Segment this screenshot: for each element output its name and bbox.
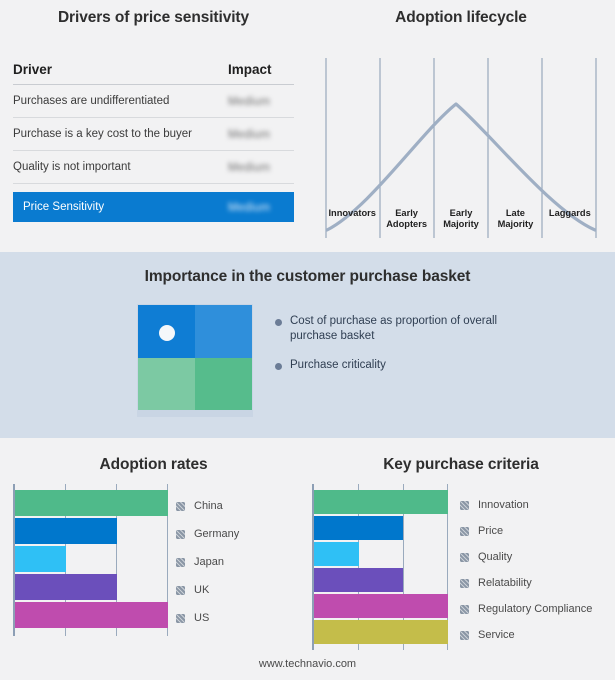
key-purchase-criteria-chart: InnovationPriceQualityRelatabilityRegula… [312,484,448,650]
stage-label-early-adopters: Early Adopters [379,208,433,230]
impact-text: Medium [228,96,270,108]
legend-label: Regulatory Compliance [478,603,592,615]
adoption-rates-title: Adoption rates [0,456,307,474]
basket-panel: Importance in the customer purchase bask… [0,252,615,438]
bar-us[interactable] [15,602,168,628]
impact-value: Medium [228,125,294,143]
matrix-quadrant-bottom-left[interactable] [138,358,195,411]
bullet-icon [275,363,282,370]
legend-item[interactable]: Regulatory Compliance [460,596,592,622]
basket-matrix [137,304,253,417]
legend-label: Germany [194,528,239,540]
legend-item[interactable]: Service [460,622,592,648]
legend-item[interactable]: US [176,604,239,632]
position-marker-icon [159,325,175,341]
drivers-table: Driver Impact Purchases are undifferenti… [13,62,294,222]
bar-group [314,490,448,644]
impact-value: Medium [228,158,294,176]
table-row[interactable]: Purchase is a key cost to the buyer Medi… [13,118,294,151]
legend-swatch-icon [460,553,469,562]
drivers-panel: Drivers of price sensitivity Driver Impa… [0,0,307,252]
legend-label: Quality [478,551,512,563]
legend-item[interactable]: UK [176,576,239,604]
bar-china[interactable] [15,490,168,516]
table-row[interactable]: Purchases are undifferentiated Medium [13,85,294,118]
legend-label: Cost of purchase as proportion of overal… [290,314,505,344]
legend-label: Price [478,525,503,537]
key-purchase-criteria-panel: Key purchase criteria InnovationPriceQua… [307,438,615,680]
legend-item: Purchase criticality [275,358,565,373]
legend-label: Japan [194,556,224,568]
bar-quality[interactable] [314,542,359,566]
stage-label-laggards: Laggards [543,208,597,230]
adoption-rates-panel: Adoption rates ChinaGermanyJapanUKUS [0,438,307,680]
lifecycle-stage-labels: Innovators Early Adopters Early Majority… [325,208,597,230]
legend-label: Service [478,629,515,641]
bar-innovation[interactable] [314,490,448,514]
legend-label: Relatability [478,577,532,589]
driver-label: Purchase is a key cost to the buyer [13,128,228,140]
key-purchase-criteria-title: Key purchase criteria [307,456,615,474]
column-header-impact: Impact [228,62,294,77]
impact-value: Medium [228,92,294,110]
bar-germany[interactable] [15,518,117,544]
plot-area [312,484,448,650]
bar-uk[interactable] [15,574,117,600]
legend-label: China [194,500,223,512]
driver-label: Purchases are undifferentiated [13,95,228,107]
legend-item[interactable]: Quality [460,544,592,570]
bar-price[interactable] [314,516,403,540]
impact-text: Medium [228,202,270,214]
matrix-quadrant-top-left[interactable] [138,305,195,358]
drivers-title: Drivers of price sensitivity [0,9,307,27]
bar-group [15,490,168,630]
legend-swatch-icon [460,631,469,640]
matrix-quadrant-top-right[interactable] [195,305,252,358]
legend-item[interactable]: Germany [176,520,239,548]
legend-swatch-icon [460,579,469,588]
bar-service[interactable] [314,620,448,644]
matrix-quadrant-bottom-right[interactable] [195,358,252,411]
legend-item[interactable]: Price [460,518,592,544]
legend-item[interactable]: Japan [176,548,239,576]
legend-swatch-icon [460,527,469,536]
legend-swatch-icon [176,502,185,511]
legend-label: Innovation [478,499,529,511]
bar-japan[interactable] [15,546,66,572]
stage-label-innovators: Innovators [325,208,379,230]
legend-swatch-icon [176,558,185,567]
driver-label: Price Sensitivity [23,201,228,213]
legend-item[interactable]: China [176,492,239,520]
basket-legend: Cost of purchase as proportion of overal… [275,314,565,387]
legend-swatch-icon [460,501,469,510]
legend-label: Purchase criticality [290,358,386,373]
driver-label: Quality is not important [13,161,228,173]
stage-label-early-majority: Early Majority [434,208,488,230]
adoption-rates-chart: ChinaGermanyJapanUKUS [13,484,168,636]
matrix-grid [138,305,252,410]
table-row-highlighted[interactable]: Price Sensitivity Medium [13,192,294,222]
legend-swatch-icon [176,530,185,539]
lifecycle-panel: Adoption lifecycle Innovators Early Adop… [307,0,615,252]
column-header-driver: Driver [13,62,228,77]
legend-item[interactable]: Relatability [460,570,592,596]
table-header: Driver Impact [13,62,294,85]
legend-item[interactable]: Innovation [460,492,592,518]
legend-label: US [194,612,209,624]
plot-area [13,484,168,636]
legend-item: Cost of purchase as proportion of overal… [275,314,565,344]
legend-swatch-icon [176,614,185,623]
lifecycle-title: Adoption lifecycle [307,9,615,27]
impact-text: Medium [228,162,270,174]
impact-text: Medium [228,129,270,141]
table-row[interactable]: Quality is not important Medium [13,151,294,184]
bar-relatability[interactable] [314,568,403,592]
legend-label: UK [194,584,209,596]
bar-regulatory-compliance[interactable] [314,594,448,618]
legend-swatch-icon [176,586,185,595]
basket-title: Importance in the customer purchase bask… [0,268,615,286]
stage-label-late-majority: Late Majority [488,208,542,230]
impact-value: Medium [228,198,294,216]
chart-legend: InnovationPriceQualityRelatabilityRegula… [460,492,592,648]
bullet-icon [275,319,282,326]
footer-url: www.technavio.com [0,658,615,670]
legend-swatch-icon [460,605,469,614]
chart-legend: ChinaGermanyJapanUKUS [176,492,239,632]
